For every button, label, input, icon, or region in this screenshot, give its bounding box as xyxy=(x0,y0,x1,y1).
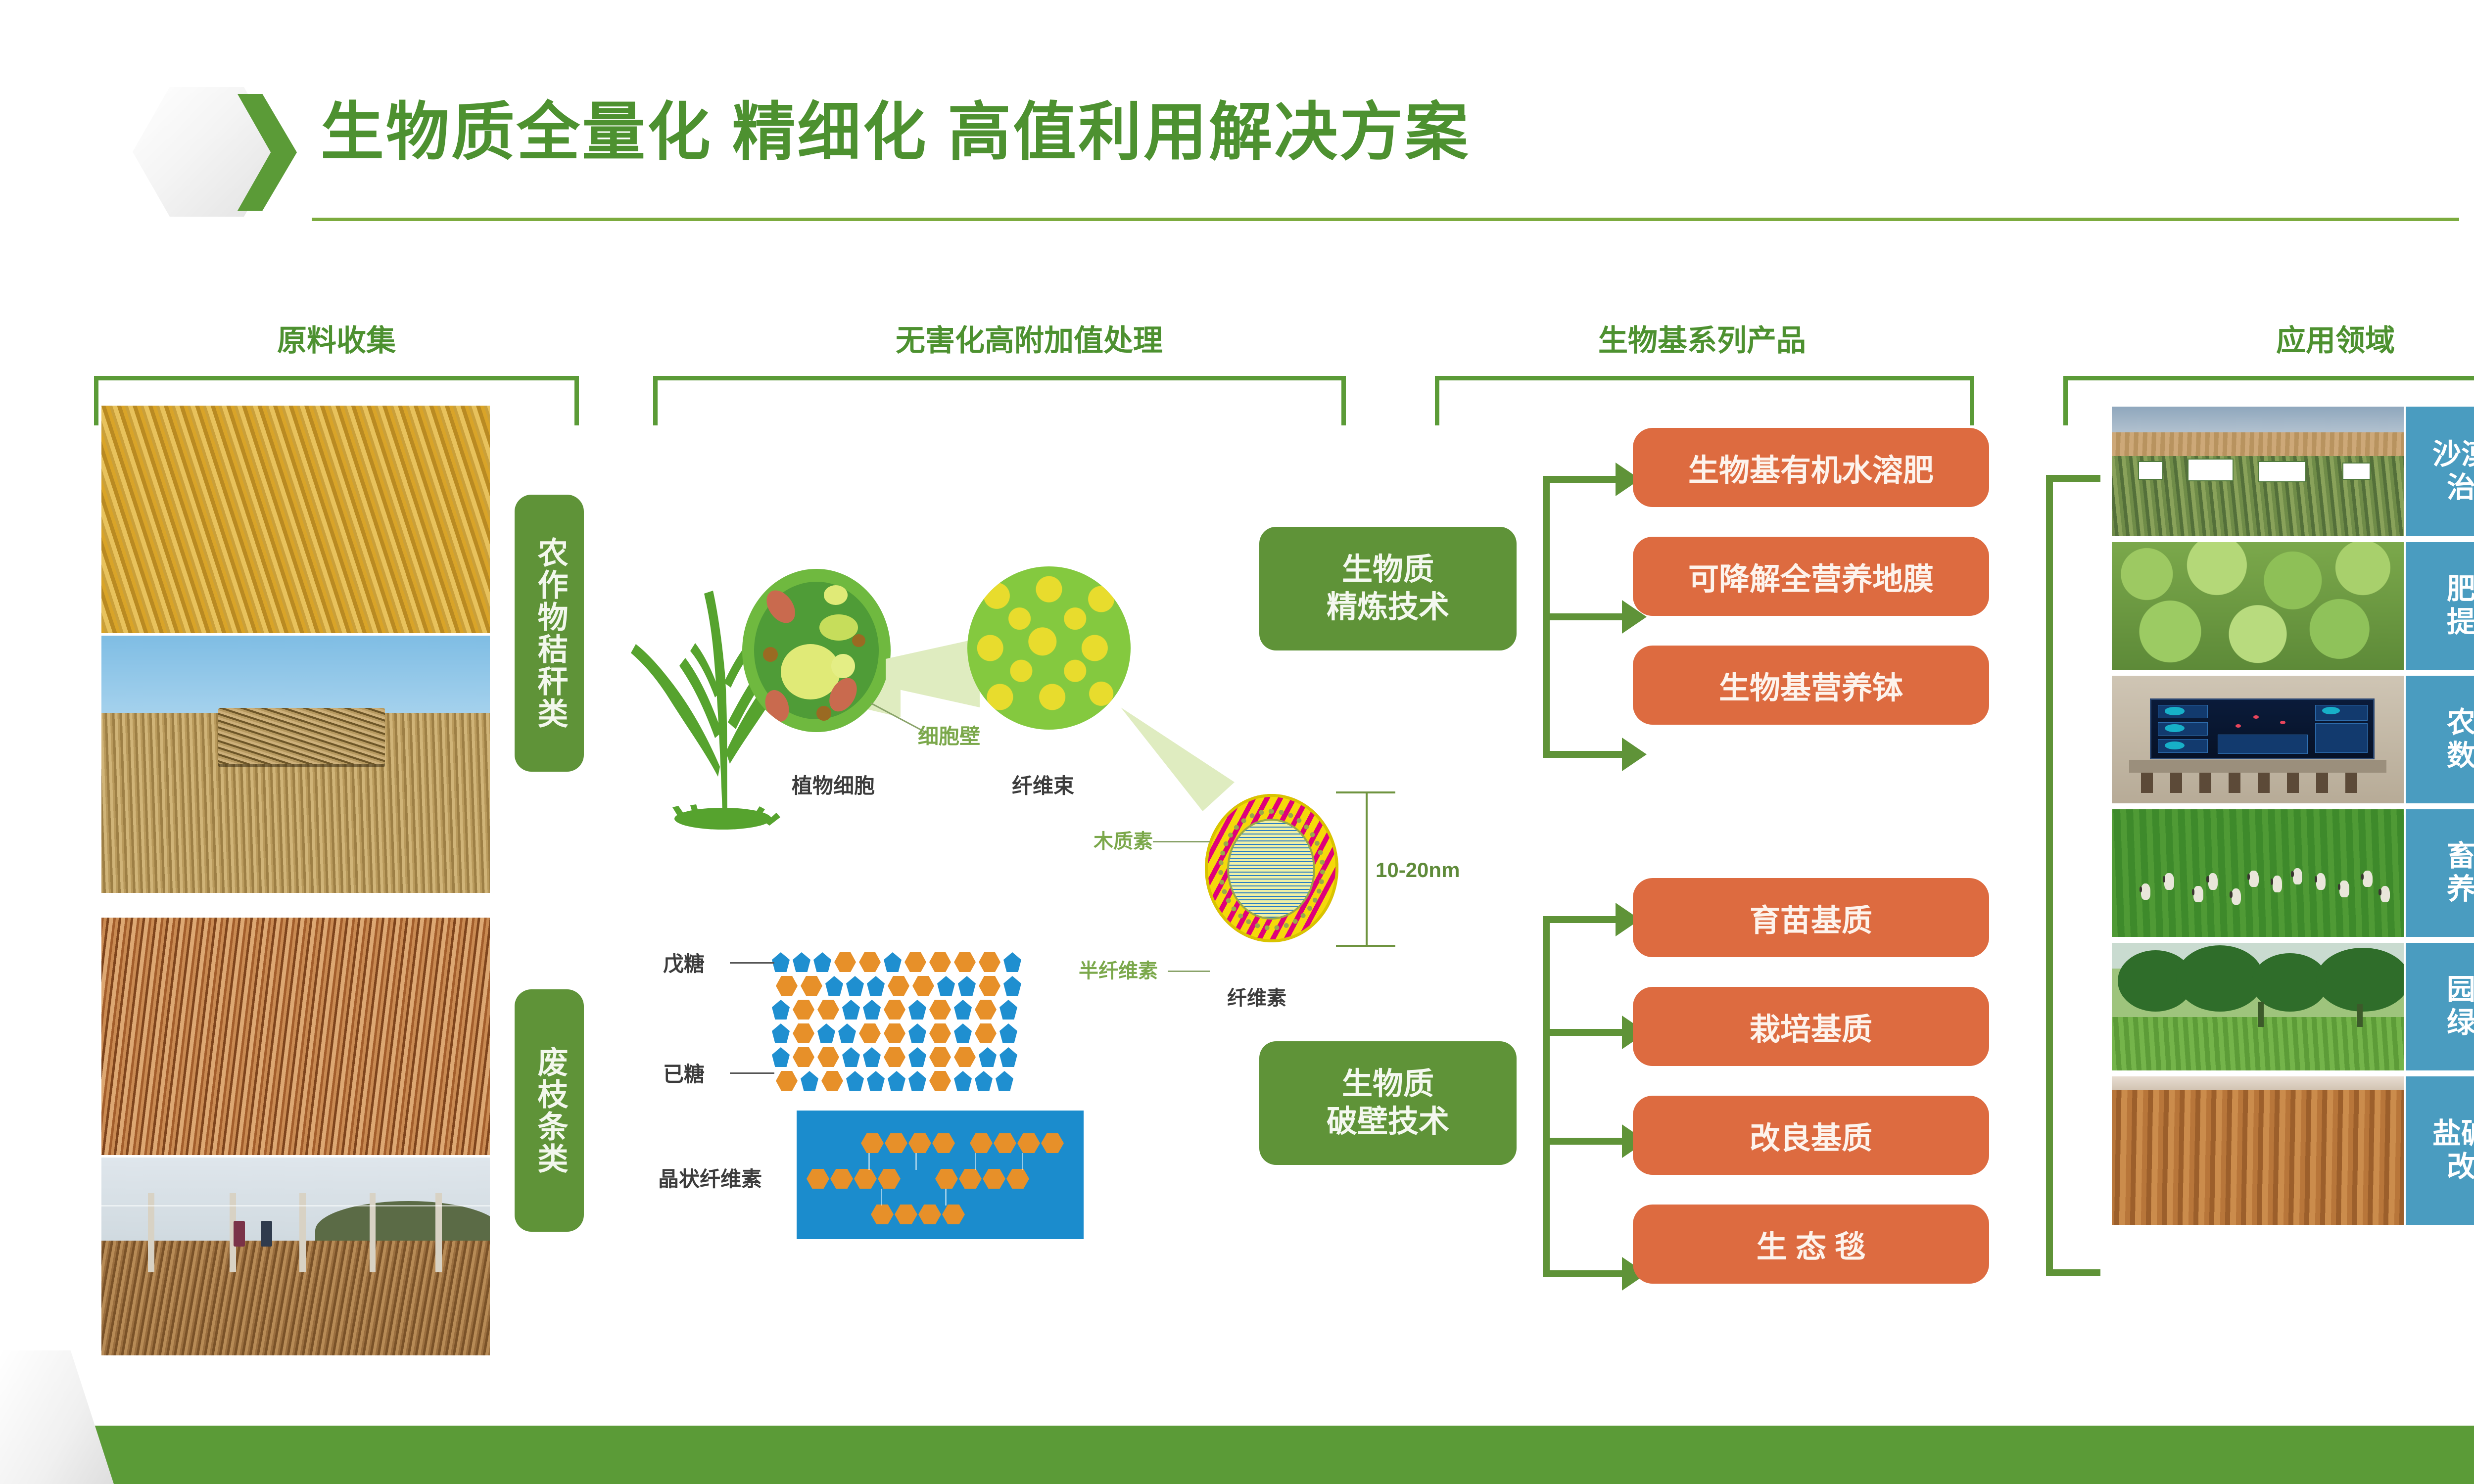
sugar-chain-illustration xyxy=(772,952,1089,1101)
title-underline xyxy=(312,218,2459,221)
application-label-landscaping[interactable]: 园林 绿化 xyxy=(2406,943,2474,1070)
photo-vineyard-pruning xyxy=(101,1158,490,1355)
label-nanometer-scale: 10-20nm xyxy=(1376,858,1460,882)
photo-cabbage-field xyxy=(2112,542,2404,670)
hemicellulose-leader-line xyxy=(1168,971,1210,972)
app-1-line2: 治理 xyxy=(2432,471,2474,505)
app-4-line1: 畜牧 xyxy=(2447,840,2474,873)
application-label-saline-alkali-improvement[interactable]: 盐碱地 改良 xyxy=(2406,1076,2474,1225)
section-header-collection: 原料收集 xyxy=(148,317,524,360)
footer-bar xyxy=(0,1426,2474,1484)
label-pentose: 戊糖 xyxy=(663,947,705,977)
app-6-line2: 改良 xyxy=(2432,1151,2474,1184)
photo-corn-straw-field xyxy=(101,406,490,633)
label-plant-cell: 植物细胞 xyxy=(792,769,875,799)
label-hemicellulose: 半纤维素 xyxy=(1079,955,1158,983)
magnify-beam-3 xyxy=(1121,707,1235,811)
dim-line-vertical xyxy=(1366,791,1368,947)
app-1-line1: 沙漠化 xyxy=(2432,438,2474,471)
application-label-fertility-improvement[interactable]: 肥力 提升 xyxy=(2406,542,2474,670)
tech-cellbreak-line1: 生物质 xyxy=(1327,1066,1449,1103)
page-title: 生物质全量化 精细化 高值利用解决方案 xyxy=(321,93,1470,172)
pentose-leader-line xyxy=(730,962,774,964)
tech-pill-refining[interactable]: 生物质 精炼技术 xyxy=(1259,527,1517,650)
section-header-processing: 无害化高附加值处理 xyxy=(633,317,1425,360)
product-pill-seedling-substrate[interactable]: 育苗基质 xyxy=(1633,878,1989,957)
feedstock-label-waste-branches: 废枝条类 xyxy=(515,989,584,1232)
product-pill-biodegradable-mulch-film[interactable]: 可降解全营养地膜 xyxy=(1633,537,1989,616)
label-crystalline-cellulose: 晶状纤维素 xyxy=(658,1162,762,1193)
photo-sheep-grazing-pasture xyxy=(2112,809,2404,937)
app-3-line2: 数据 xyxy=(2447,740,2474,773)
product-pill-organic-water-soluble-fertilizer[interactable]: 生物基有机水溶肥 xyxy=(1633,428,1989,507)
photo-dry-branches xyxy=(101,918,490,1155)
app-6-line1: 盐碱地 xyxy=(2432,1117,2474,1151)
hexose-leader-line xyxy=(730,1072,774,1074)
bracket-products xyxy=(1435,376,1974,425)
section-header-applications: 应用领域 xyxy=(2103,317,2474,360)
crystalline-cellulose-panel xyxy=(797,1111,1084,1239)
application-label-desertification-control[interactable]: 沙漠化 治理 xyxy=(2406,407,2474,536)
tech-refining-line1: 生物质 xyxy=(1327,551,1449,589)
app-2-line1: 肥力 xyxy=(2447,573,2474,606)
section-header-products: 生物基系列产品 xyxy=(1430,317,1974,360)
product-pill-improvement-substrate[interactable]: 改良基质 xyxy=(1633,1096,1989,1175)
label-fiber-bundle: 纤维束 xyxy=(1012,769,1074,799)
footer-wedge-decoration xyxy=(0,1350,114,1484)
app-2-line2: 提升 xyxy=(2447,606,2474,639)
photo-agriculture-data-center xyxy=(2112,676,2404,803)
fiber-bundle-illustration xyxy=(967,566,1131,730)
application-label-agriculture-data[interactable]: 农业 数据 xyxy=(2406,676,2474,803)
app-4-line2: 养殖 xyxy=(2447,873,2474,906)
label-hexose: 已糖 xyxy=(663,1058,705,1088)
label-cellulose: 纤维素 xyxy=(1227,982,1286,1011)
tech-refining-line2: 精炼技术 xyxy=(1327,589,1449,626)
tech-pill-cellbreak[interactable]: 生物质 破壁技术 xyxy=(1259,1041,1517,1165)
product-pill-cultivation-substrate[interactable]: 栽培基质 xyxy=(1633,987,1989,1066)
tech-cellbreak-line2: 破壁技术 xyxy=(1327,1103,1449,1141)
bracket-processing xyxy=(653,376,1346,425)
photo-straw-bale-field xyxy=(101,636,490,893)
feedstock-label-crop-straw: 农作物秸秆类 xyxy=(515,495,584,772)
application-label-livestock-breeding[interactable]: 畜牧 养殖 xyxy=(2406,809,2474,937)
photo-tilled-saline-soil xyxy=(2112,1076,2404,1225)
photo-desert-revegetation xyxy=(2112,407,2404,536)
app-5-line2: 绿化 xyxy=(2447,1007,2474,1040)
app-5-line1: 园林 xyxy=(2447,974,2474,1007)
lignin-leader-line xyxy=(1153,841,1210,842)
app-3-line1: 农业 xyxy=(2447,706,2474,740)
photo-landscape-park-trees xyxy=(2112,943,2404,1070)
product-pill-ecological-blanket[interactable]: 生 态 毯 xyxy=(1633,1205,1989,1284)
product-pill-biobased-nutrient-pot[interactable]: 生物基营养钵 xyxy=(1633,646,1989,725)
applications-bracket xyxy=(2046,475,2105,1276)
cellulose-core xyxy=(1227,819,1315,920)
label-lignin: 木质素 xyxy=(1094,825,1153,854)
slide-canvas: 生物质全量化 精细化 高值利用解决方案 原料收集 无害化高附加值处理 生物基系列… xyxy=(0,0,2474,1484)
plant-cell-illustration xyxy=(742,569,891,732)
